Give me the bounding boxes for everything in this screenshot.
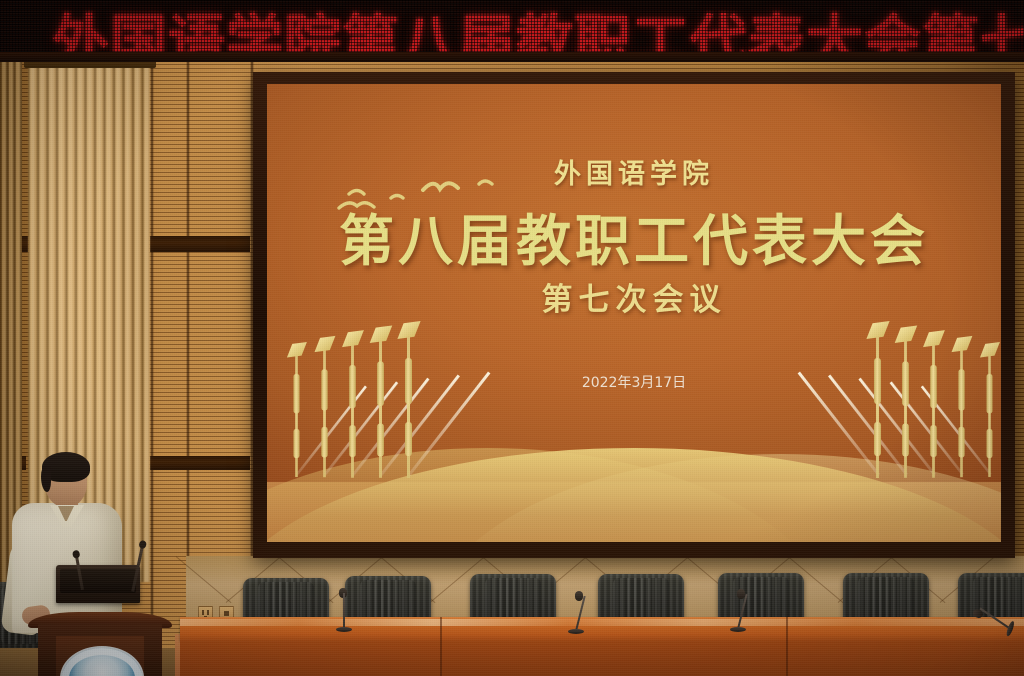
table-seam [786,617,788,676]
wall-band [150,456,250,470]
wall-band [150,236,250,252]
slide-title: 第八届教职工代表大会 [267,196,1001,276]
table-microphone [568,590,584,634]
table-seam [440,617,442,676]
slide-session: 第七次会议 [267,274,1001,319]
wall-seam [150,0,154,676]
table-microphone [730,588,746,632]
slide-organization: 外国语学院 [267,152,1001,191]
projection-screen-surface: 外国语学院 第八届教职工代表大会 第七次会议 2022年3月17日 [267,84,1001,542]
table-reflection [180,619,1024,626]
slide-date: 2022年3月17日 [267,372,1001,392]
led-banner-text: 外国语学院第八届教职工代表大会第七 [52,0,1024,58]
wheat-decor-left [293,330,493,490]
podium-laptop [56,565,140,603]
speaker-hair [41,466,51,492]
table-microphone [336,588,352,632]
led-banner: 外国语学院第八届教职工代表大会第七 [0,0,1024,58]
led-banner-edge [0,52,1024,62]
auditorium-scene: 外国语学院 第八届教职工代表大会 第七次会议 2022年3月17日 [0,0,1024,676]
conference-table-front [180,641,1024,676]
conference-table-top [180,617,1024,641]
projection-screen-frame: 外国语学院 第八届教职工代表大会 第七次会议 2022年3月17日 [253,72,1015,558]
wheat-decor-right [793,330,993,490]
